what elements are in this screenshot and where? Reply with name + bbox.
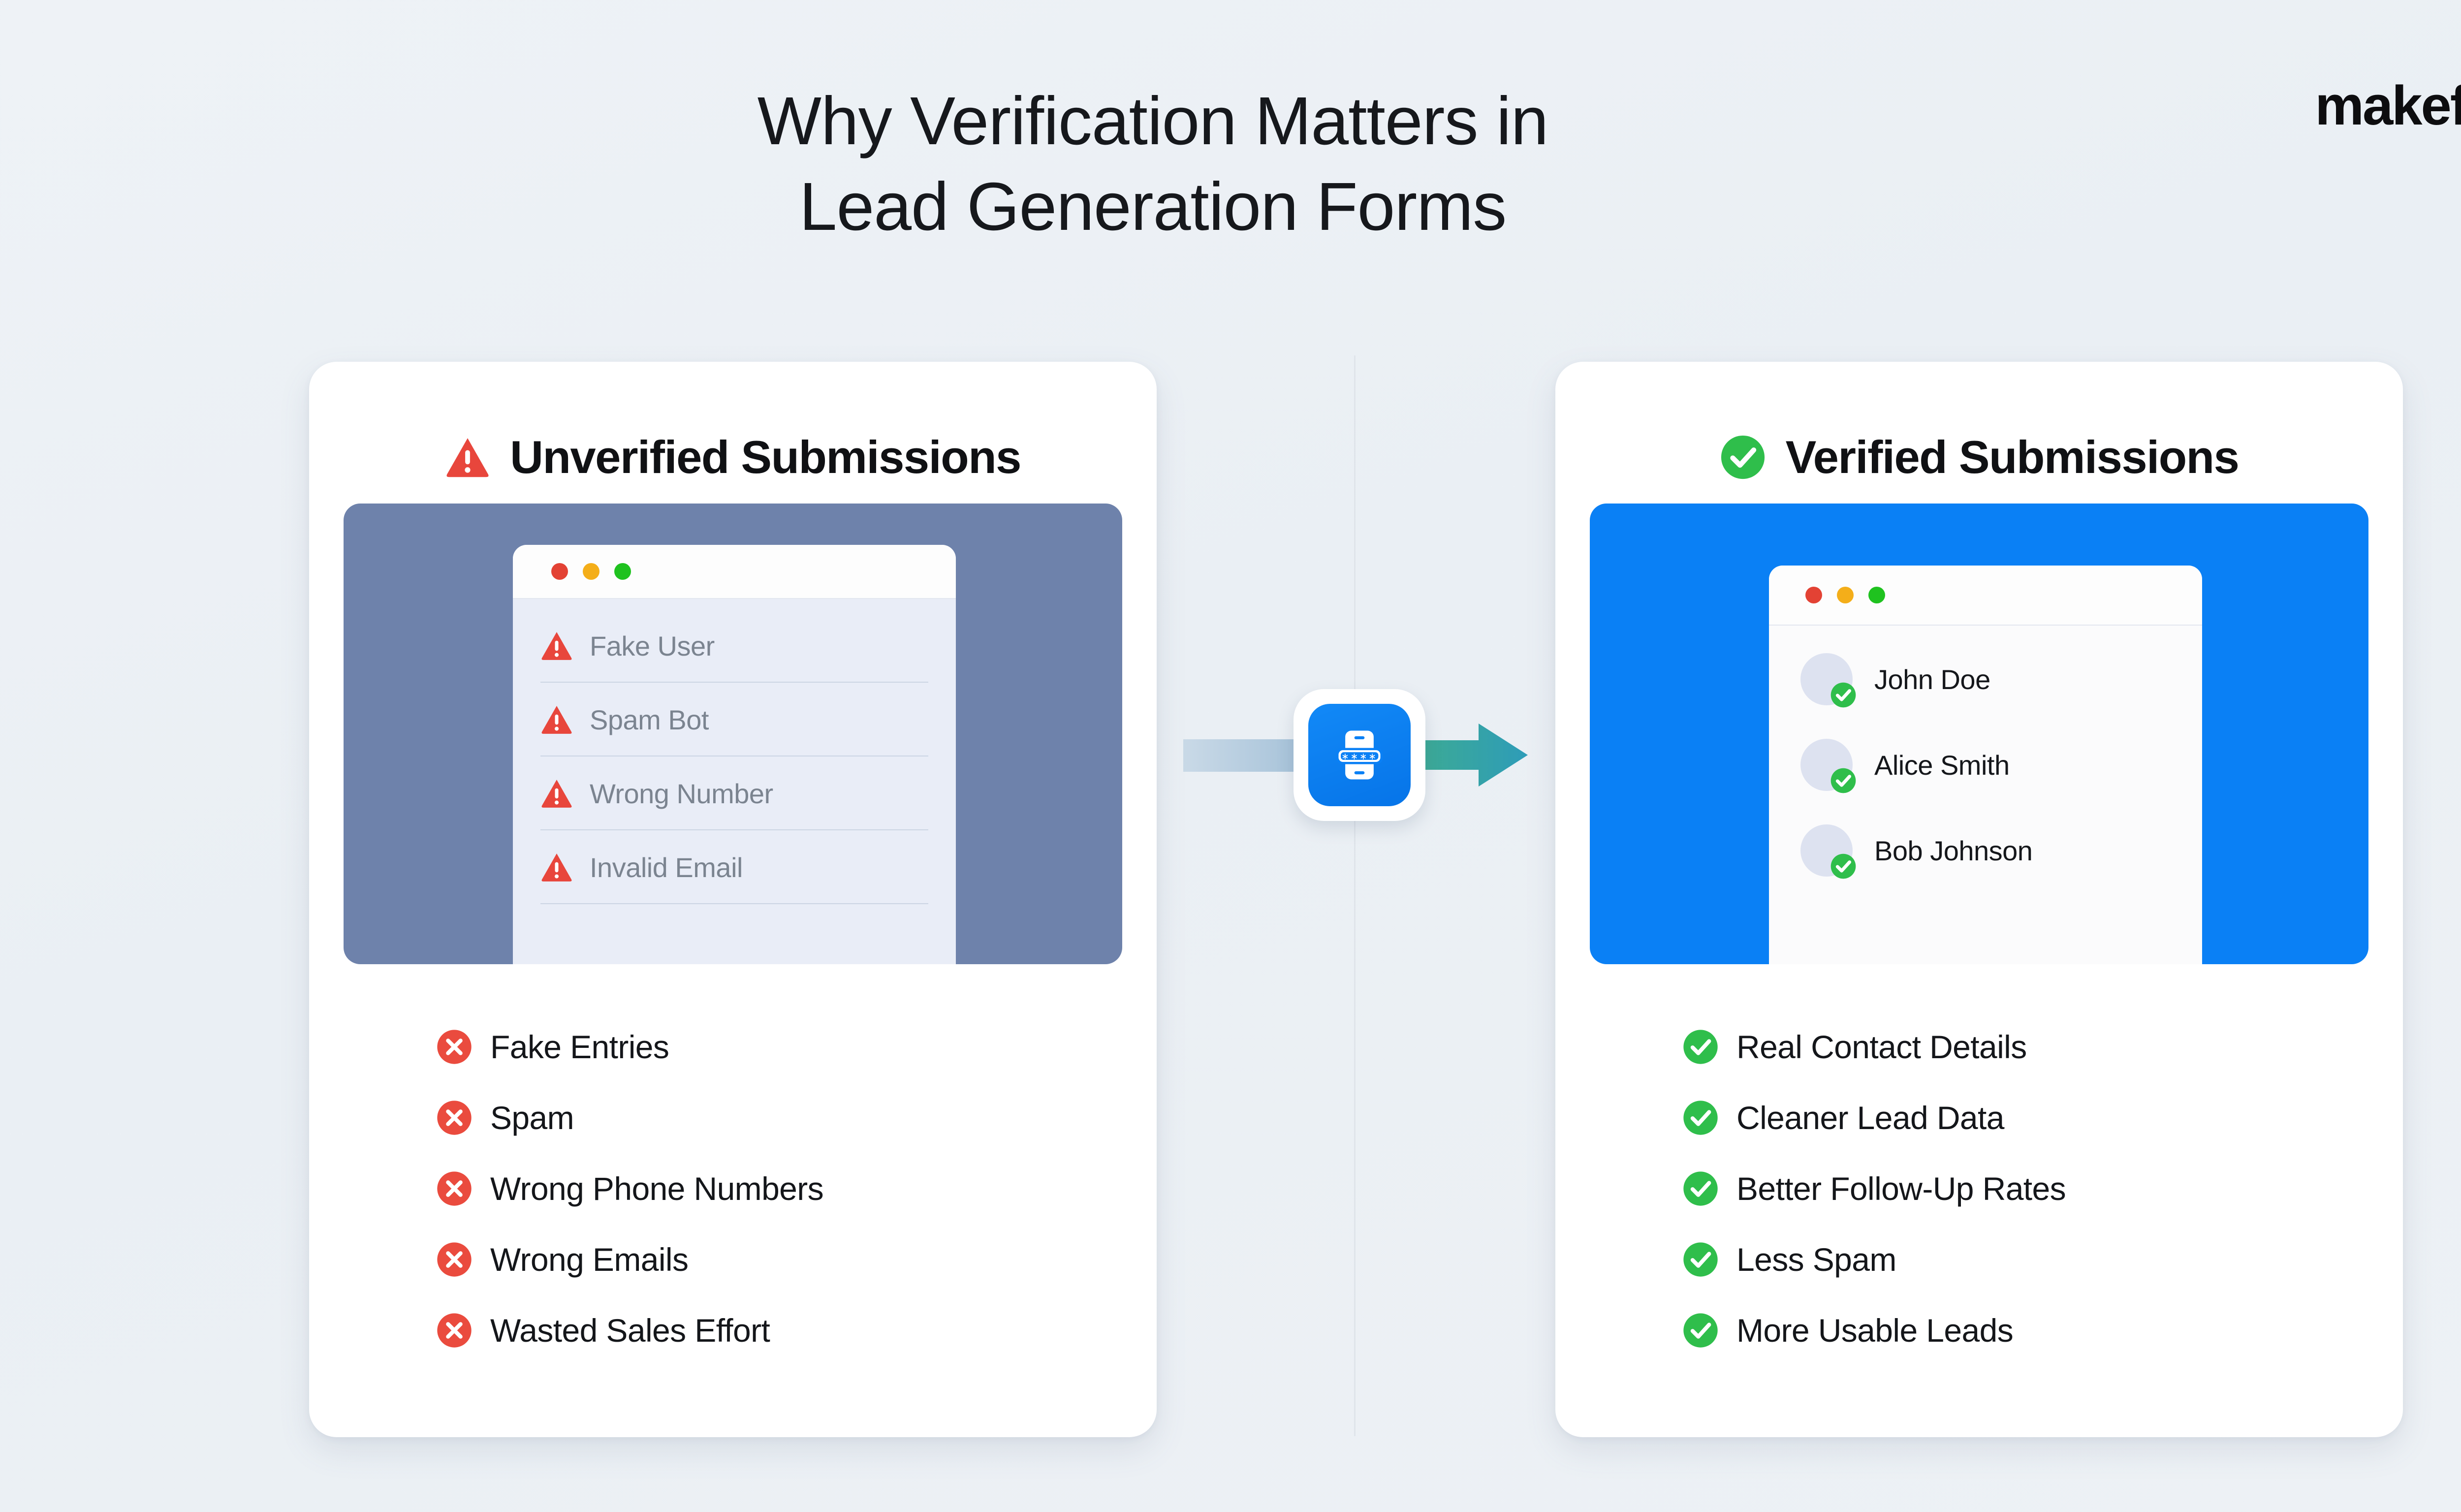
window-title-bar	[1769, 566, 2202, 626]
list-item-label: Wrong Emails	[490, 1241, 688, 1278]
circle-check-icon	[1682, 1241, 1719, 1278]
list-item-label: Real Contact Details	[1736, 1028, 2027, 1066]
window-maximize-dot	[1868, 587, 1885, 603]
circle-check-icon	[1682, 1312, 1719, 1349]
svg-text:∗∗∗∗: ∗∗∗∗	[1341, 752, 1378, 762]
circle-x-icon	[436, 1241, 473, 1278]
vertical-divider	[1354, 355, 1356, 1436]
avatar	[1800, 653, 1853, 705]
window-maximize-dot	[614, 563, 631, 580]
unverified-mockup-panel: Fake User Spam Bot	[344, 504, 1122, 964]
list-item: Wrong Phone Numbers	[436, 1153, 1125, 1224]
warning-triangle-icon	[540, 851, 573, 883]
verified-check-badge-icon	[1830, 682, 1857, 708]
verified-check-badge-icon	[1830, 767, 1857, 794]
circle-x-icon	[436, 1170, 473, 1207]
mockup-row-label: Invalid Email	[590, 851, 743, 883]
verified-card-header: Verified Submissions	[1555, 431, 2403, 484]
window-minimize-dot	[1837, 587, 1854, 603]
warning-triangle-icon	[540, 703, 573, 736]
otp-badge-inner: ∗∗∗∗	[1308, 704, 1411, 806]
contact-row: Bob Johnson	[1800, 808, 2202, 893]
contact-row: Alice Smith	[1800, 722, 2202, 808]
list-item: Better Follow-Up Rates	[1682, 1153, 2371, 1224]
unverified-browser-window: Fake User Spam Bot	[513, 545, 956, 964]
contact-name: John Doe	[1874, 663, 1990, 695]
verified-submissions-card: Verified Submissions	[1555, 362, 2403, 1437]
list-item-label: Fake Entries	[490, 1028, 669, 1066]
circle-check-icon	[1720, 434, 1766, 480]
circle-check-icon	[1682, 1170, 1719, 1207]
list-item-label: Cleaner Lead Data	[1736, 1099, 2004, 1136]
verified-browser-window: John Doe Alice Smith	[1769, 566, 2202, 964]
list-item: Wrong Emails	[436, 1224, 1125, 1295]
list-item: Fake Entries	[436, 1011, 1125, 1082]
warning-triangle-icon	[540, 777, 573, 810]
window-content: John Doe Alice Smith	[1769, 626, 2202, 964]
circle-check-icon	[1682, 1100, 1719, 1136]
contact-name: Alice Smith	[1874, 749, 2010, 781]
warning-triangle-icon	[540, 630, 573, 662]
verification-flow: ∗∗∗∗	[1183, 681, 1536, 829]
circle-check-icon	[1682, 1029, 1719, 1065]
list-item-label: Less Spam	[1736, 1241, 1896, 1278]
list-item-label: Better Follow-Up Rates	[1736, 1170, 2066, 1207]
window-minimize-dot	[583, 563, 599, 580]
brand-name: makeforms	[2315, 74, 2461, 137]
list-item-label: Wasted Sales Effort	[490, 1312, 770, 1349]
unverified-card-title: Unverified Submissions	[510, 431, 1021, 484]
window-title-bar	[513, 545, 956, 599]
page-title-line-2: Lead Generation Forms	[0, 164, 2305, 250]
list-item: Real Contact Details	[1682, 1011, 2371, 1082]
list-item-label: Spam	[490, 1099, 574, 1136]
infographic-canvas: Why Verification Matters in Lead Generat…	[0, 0, 2461, 1512]
mockup-row: Wrong Number	[540, 756, 928, 830]
phone-otp-verification-icon: ∗∗∗∗	[1327, 723, 1392, 787]
mockup-row: Fake User	[540, 599, 928, 683]
list-item: Cleaner Lead Data	[1682, 1082, 2371, 1153]
list-item: Wasted Sales Effort	[436, 1295, 1125, 1366]
verified-mockup-panel: John Doe Alice Smith	[1590, 504, 2368, 964]
verified-card-title: Verified Submissions	[1786, 431, 2239, 484]
list-item-label: More Usable Leads	[1736, 1312, 2013, 1349]
brand-logo: makeforms .io	[2315, 74, 2461, 137]
unverified-bullet-list: Fake Entries Spam Wrong Phone Numbers	[436, 1011, 1125, 1366]
page-title: Why Verification Matters in Lead Generat…	[0, 79, 2461, 250]
otp-verification-badge: ∗∗∗∗	[1294, 689, 1425, 821]
avatar	[1800, 824, 1853, 877]
circle-x-icon	[436, 1029, 473, 1065]
list-item: Less Spam	[1682, 1224, 2371, 1295]
list-item: More Usable Leads	[1682, 1295, 2371, 1366]
avatar	[1800, 739, 1853, 791]
warning-triangle-icon	[445, 435, 490, 480]
circle-x-icon	[436, 1312, 473, 1349]
window-content: Fake User Spam Bot	[513, 599, 956, 964]
mockup-row: Spam Bot	[540, 683, 928, 756]
mockup-row-label: Fake User	[590, 630, 715, 662]
circle-x-icon	[436, 1100, 473, 1136]
contact-row: John Doe	[1800, 626, 2202, 722]
list-item-label: Wrong Phone Numbers	[490, 1170, 823, 1207]
window-close-dot	[1805, 587, 1822, 603]
window-close-dot	[551, 563, 568, 580]
unverified-card-header: Unverified Submissions	[309, 431, 1157, 484]
list-item: Spam	[436, 1082, 1125, 1153]
mockup-row-label: Spam Bot	[590, 704, 709, 736]
unverified-submissions-card: Unverified Submissions Fake	[309, 362, 1157, 1437]
contact-name: Bob Johnson	[1874, 835, 2032, 867]
verified-bullet-list: Real Contact Details Cleaner Lead Data B…	[1682, 1011, 2371, 1366]
mockup-row: Invalid Email	[540, 830, 928, 904]
mockup-row-label: Wrong Number	[590, 778, 773, 810]
verified-check-badge-icon	[1830, 853, 1857, 880]
page-title-line-1: Why Verification Matters in	[0, 79, 2305, 164]
